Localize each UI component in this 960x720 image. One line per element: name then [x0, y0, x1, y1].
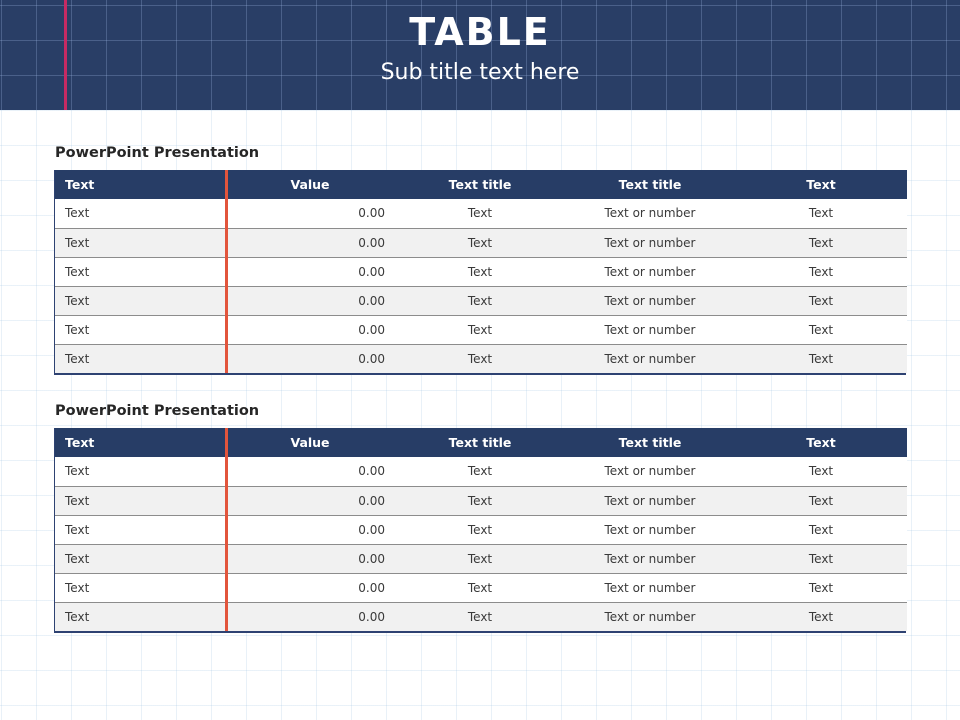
table-wrapper-2: Text Value Text title Text title Text Te… — [54, 428, 906, 633]
cell-text-last: Text — [735, 257, 907, 286]
cell-text: Text — [55, 286, 225, 315]
column-header-1[interactable]: Value — [225, 428, 395, 457]
cell-text-title: Text — [395, 515, 565, 544]
table-row: Text 0.00 Text Text or number Text — [55, 228, 907, 257]
table-section-1: PowerPoint Presentation Text Value Text … — [54, 145, 906, 375]
cell-text: Text — [55, 573, 225, 602]
cell-text: Text — [55, 228, 225, 257]
cell-text-title: Text — [395, 199, 565, 228]
cell-text-last: Text — [735, 315, 907, 344]
cell-text: Text — [55, 602, 225, 631]
column-header-0[interactable]: Text — [55, 170, 225, 199]
section-heading-1: PowerPoint Presentation — [55, 145, 906, 161]
cell-text-or-number: Text or number — [565, 344, 735, 373]
cell-text-or-number: Text or number — [565, 573, 735, 602]
cell-text: Text — [55, 515, 225, 544]
cell-text-last: Text — [735, 486, 907, 515]
column-header-1[interactable]: Value — [225, 170, 395, 199]
table-row: Text 0.00 Text Text or number Text — [55, 286, 907, 315]
cell-text-title: Text — [395, 344, 565, 373]
table-row: Text 0.00 Text Text or number Text — [55, 315, 907, 344]
cell-text-last: Text — [735, 286, 907, 315]
cell-text-or-number: Text or number — [565, 228, 735, 257]
column-header-2[interactable]: Text title — [395, 428, 565, 457]
cell-text-last: Text — [735, 602, 907, 631]
cell-text-title: Text — [395, 257, 565, 286]
banner-text-block: TABLE Sub title text here — [0, 0, 960, 85]
column-header-4[interactable]: Text — [735, 428, 907, 457]
cell-value: 0.00 — [225, 228, 395, 257]
cell-text-title: Text — [395, 315, 565, 344]
table-body-2: Text 0.00 Text Text or number Text Text … — [55, 457, 907, 631]
page-title: TABLE — [0, 0, 960, 53]
cell-text-or-number: Text or number — [565, 544, 735, 573]
table-row: Text 0.00 Text Text or number Text — [55, 544, 907, 573]
cell-text: Text — [55, 544, 225, 573]
cell-text: Text — [55, 486, 225, 515]
cell-value: 0.00 — [225, 486, 395, 515]
title-banner: TABLE Sub title text here — [0, 0, 960, 110]
cell-value: 0.00 — [225, 315, 395, 344]
cell-text-last: Text — [735, 457, 907, 486]
cell-text-or-number: Text or number — [565, 257, 735, 286]
cell-text-or-number: Text or number — [565, 286, 735, 315]
table-row: Text 0.00 Text Text or number Text — [55, 457, 907, 486]
cell-text-or-number: Text or number — [565, 315, 735, 344]
cell-text-title: Text — [395, 602, 565, 631]
cell-text-title: Text — [395, 544, 565, 573]
cell-value: 0.00 — [225, 515, 395, 544]
cell-text: Text — [55, 315, 225, 344]
table-head-1: Text Value Text title Text title Text — [55, 170, 907, 199]
cell-text-last: Text — [735, 515, 907, 544]
cell-text-or-number: Text or number — [565, 486, 735, 515]
table-wrapper-1: Text Value Text title Text title Text Te… — [54, 170, 906, 375]
table-row: Text 0.00 Text Text or number Text — [55, 199, 907, 228]
cell-value: 0.00 — [225, 573, 395, 602]
cell-value: 0.00 — [225, 199, 395, 228]
cell-text: Text — [55, 257, 225, 286]
table-header-row: Text Value Text title Text title Text — [55, 428, 907, 457]
data-table-1: Text Value Text title Text title Text Te… — [55, 170, 907, 373]
table-head-2: Text Value Text title Text title Text — [55, 428, 907, 457]
cell-value: 0.00 — [225, 544, 395, 573]
table-body-1: Text 0.00 Text Text or number Text Text … — [55, 199, 907, 373]
table-section-2: PowerPoint Presentation Text Value Text … — [54, 403, 906, 633]
column-header-3[interactable]: Text title — [565, 428, 735, 457]
cell-text-or-number: Text or number — [565, 457, 735, 486]
cell-value: 0.00 — [225, 257, 395, 286]
table-row: Text 0.00 Text Text or number Text — [55, 602, 907, 631]
column-header-4[interactable]: Text — [735, 170, 907, 199]
table-row: Text 0.00 Text Text or number Text — [55, 486, 907, 515]
table-header-row: Text Value Text title Text title Text — [55, 170, 907, 199]
cell-text: Text — [55, 457, 225, 486]
cell-text-title: Text — [395, 457, 565, 486]
column-header-0[interactable]: Text — [55, 428, 225, 457]
cell-text-last: Text — [735, 573, 907, 602]
cell-text-or-number: Text or number — [565, 199, 735, 228]
cell-text-last: Text — [735, 228, 907, 257]
cell-value: 0.00 — [225, 602, 395, 631]
cell-text-title: Text — [395, 228, 565, 257]
cell-text-last: Text — [735, 344, 907, 373]
cell-text-title: Text — [395, 486, 565, 515]
cell-text-title: Text — [395, 573, 565, 602]
cell-text: Text — [55, 199, 225, 228]
cell-text-last: Text — [735, 544, 907, 573]
cell-text-or-number: Text or number — [565, 515, 735, 544]
data-table-2: Text Value Text title Text title Text Te… — [55, 428, 907, 631]
table-row: Text 0.00 Text Text or number Text — [55, 257, 907, 286]
table-row: Text 0.00 Text Text or number Text — [55, 573, 907, 602]
cell-value: 0.00 — [225, 457, 395, 486]
cell-text-or-number: Text or number — [565, 602, 735, 631]
column-header-3[interactable]: Text title — [565, 170, 735, 199]
table-row: Text 0.00 Text Text or number Text — [55, 515, 907, 544]
page-subtitle: Sub title text here — [0, 53, 960, 85]
table-row: Text 0.00 Text Text or number Text — [55, 344, 907, 373]
cell-text: Text — [55, 344, 225, 373]
column-header-2[interactable]: Text title — [395, 170, 565, 199]
cell-value: 0.00 — [225, 344, 395, 373]
cell-text-title: Text — [395, 286, 565, 315]
section-heading-2: PowerPoint Presentation — [55, 403, 906, 419]
cell-text-last: Text — [735, 199, 907, 228]
cell-value: 0.00 — [225, 286, 395, 315]
